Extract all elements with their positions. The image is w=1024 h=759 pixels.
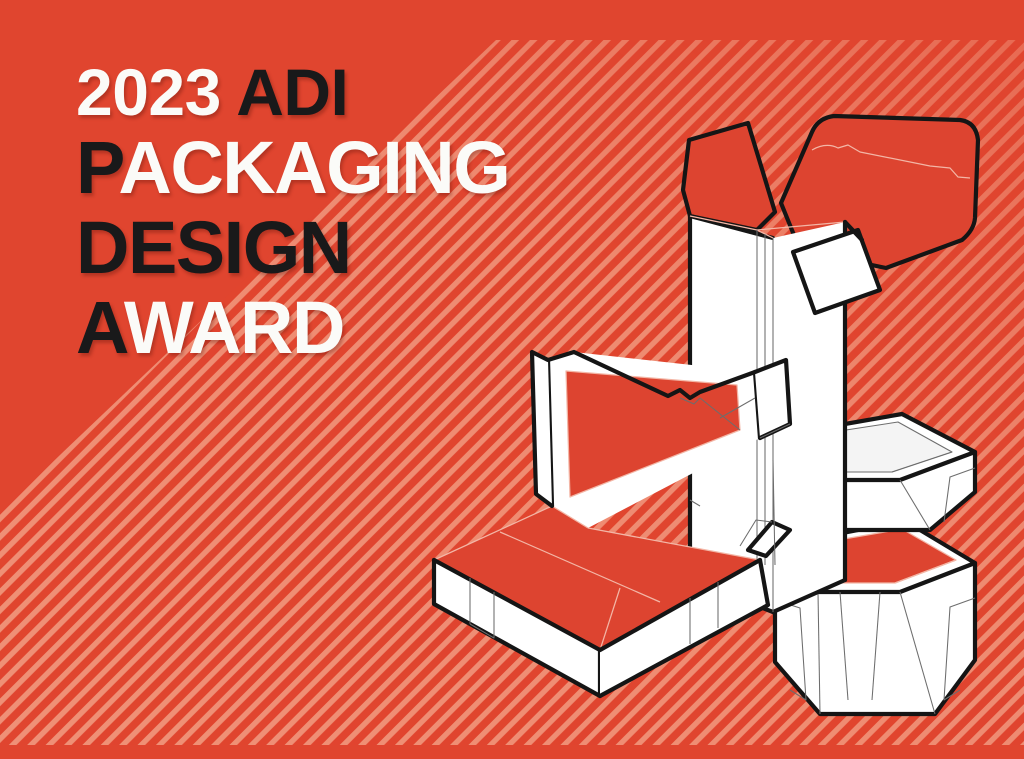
headline-packaging-rest: ACKAGING [118, 126, 509, 209]
bottom-color-band [0, 745, 1024, 759]
headline-org: ADI [236, 55, 348, 129]
headline-design: DESIGN [76, 206, 351, 289]
headline-packaging-p: P [76, 126, 118, 209]
headline-award-a: A [76, 286, 124, 369]
headline-award-rest: WARD [124, 286, 344, 369]
headline-year: 2023 [76, 55, 236, 129]
headline-line-2: PACKAGING [76, 128, 696, 208]
headline-line-4: AWARD [76, 288, 696, 368]
award-poster: .ink { stroke:#151515; stroke-width:4.2;… [0, 0, 1024, 759]
headline-line-1: 2023 ADI [76, 56, 696, 128]
headline-line-3: DESIGN [76, 208, 696, 288]
page-title: 2023 ADI PACKAGING DESIGN AWARD [76, 56, 696, 368]
